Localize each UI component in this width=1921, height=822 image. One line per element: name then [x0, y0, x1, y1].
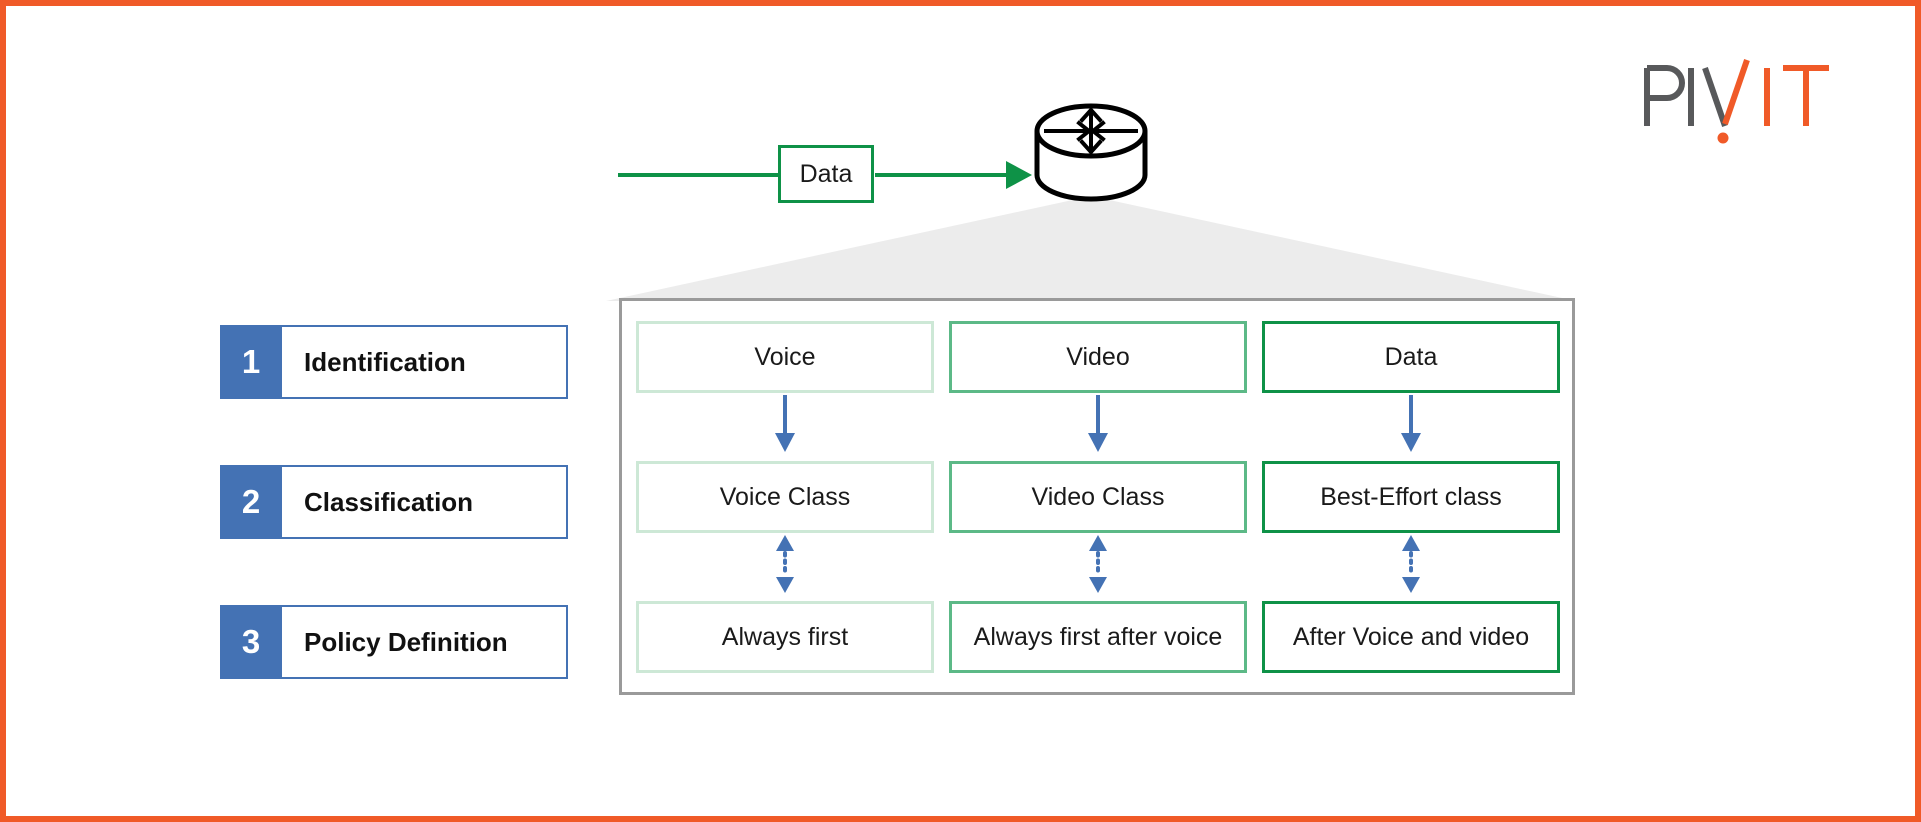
step-label-classification: 2 Classification [220, 465, 568, 539]
cell-voice-classification: Voice Class [636, 461, 934, 533]
step-label-policy-definition: 3 Policy Definition [220, 605, 568, 679]
arrow-down-voice-icon [770, 395, 800, 453]
cell-video-identification: Video [949, 321, 1247, 393]
step-title-3: Policy Definition [282, 605, 568, 679]
step-title-1: Identification [282, 325, 568, 399]
arrow-bidirectional-voice-icon [770, 535, 800, 593]
data-flow-label: Data [778, 145, 874, 203]
cell-data-identification: Data [1262, 321, 1560, 393]
flow-arrowhead-icon [1006, 161, 1032, 189]
cell-data-policy: After Voice and video [1262, 601, 1560, 673]
pivit-logo [1643, 58, 1843, 144]
router-icon [1032, 99, 1150, 209]
cell-voice-policy: Always first [636, 601, 934, 673]
step-label-identification: 1 Identification [220, 325, 568, 399]
step-title-2: Classification [282, 465, 568, 539]
step-number-2: 2 [220, 465, 282, 539]
step-number-3: 3 [220, 605, 282, 679]
cell-voice-identification: Voice [636, 321, 934, 393]
cell-video-classification: Video Class [949, 461, 1247, 533]
step-number-1: 1 [220, 325, 282, 399]
cell-data-classification: Best-Effort class [1262, 461, 1560, 533]
arrow-bidirectional-data-icon [1396, 535, 1426, 593]
funnel-shape [606, 196, 1576, 301]
qos-panel: Voice Video Data Voice Class Video Class… [619, 298, 1575, 695]
arrow-bidirectional-video-icon [1083, 535, 1113, 593]
cell-video-policy: Always first after voice [949, 601, 1247, 673]
diagram-canvas: Data 1 [0, 0, 1921, 822]
arrow-down-video-icon [1083, 395, 1113, 453]
flow-line-right [875, 173, 1025, 177]
flow-line-left [618, 173, 778, 177]
arrow-down-data-icon [1396, 395, 1426, 453]
